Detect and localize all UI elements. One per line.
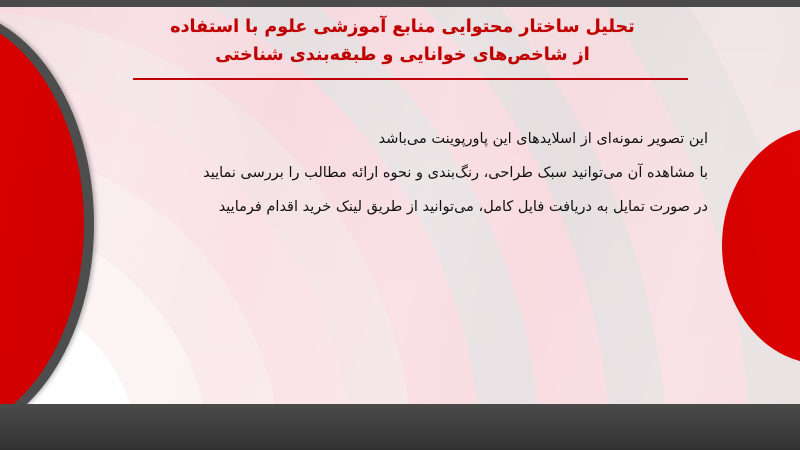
slide-title-line-2: از شاخص‌های خوانایی و طبقه‌بندی شناختی — [110, 41, 695, 69]
slide-body-text: این تصویر نمونه‌ای از اسلایدهای این پاور… — [120, 122, 708, 224]
body-line-1: این تصویر نمونه‌ای از اسلایدهای این پاور… — [120, 122, 708, 156]
title-underline-rule — [133, 78, 688, 80]
slide-title-line-1: تحلیل ساختار محتوایی منابع آموزشی علوم ب… — [110, 13, 695, 41]
body-line-2: با مشاهده آن می‌توانید سبک طراحی، رنگ‌بن… — [120, 156, 708, 190]
slide-title: تحلیل ساختار محتوایی منابع آموزشی علوم ب… — [110, 13, 695, 69]
body-line-3: در صورت تمایل به دریافت فایل کامل، می‌تو… — [120, 190, 708, 224]
presentation-slide: تحلیل ساختار محتوایی منابع آموزشی علوم ب… — [0, 0, 800, 450]
